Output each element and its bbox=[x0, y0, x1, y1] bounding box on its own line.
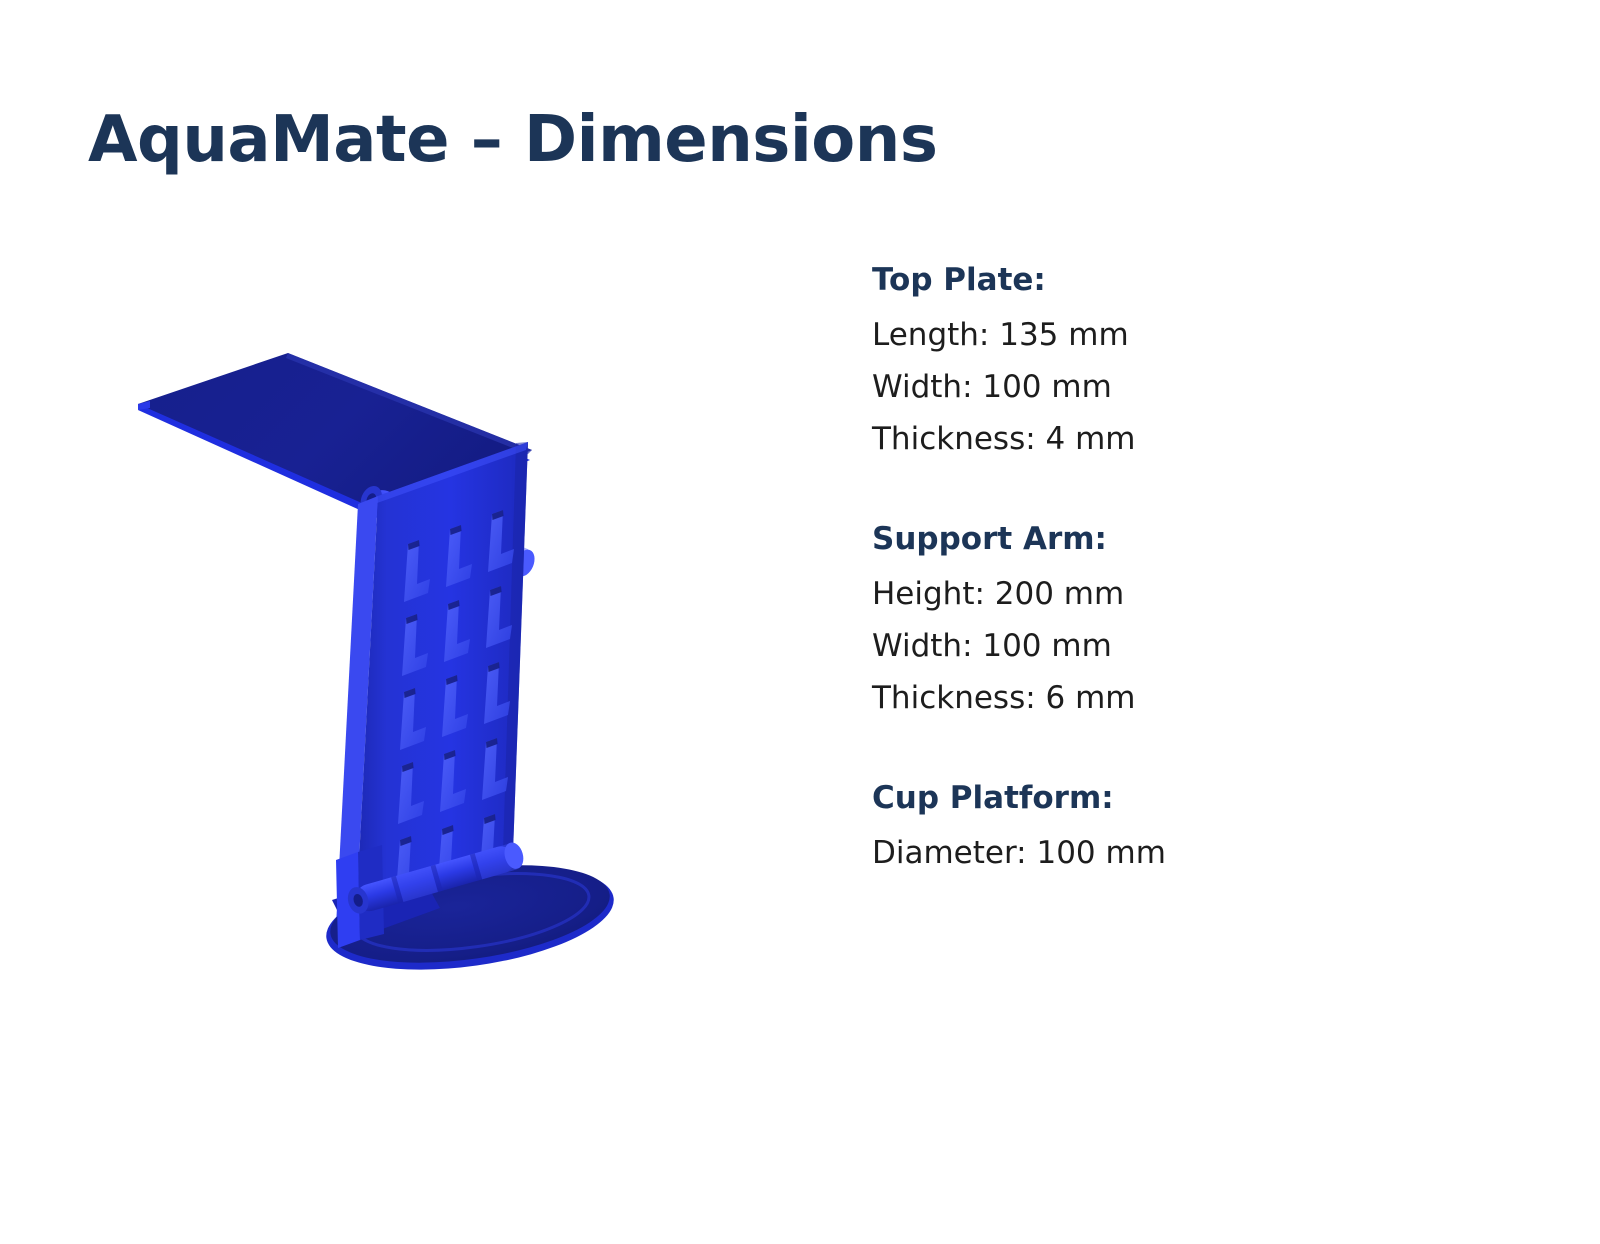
dimensions-spec-list: Top Plate: Length: 135 mm Width: 100 mm … bbox=[872, 258, 1392, 879]
spec-group-support-arm: Support Arm: Height: 200 mm Width: 100 m… bbox=[872, 517, 1392, 724]
spec-line-top-plate-length: Length: 135 mm bbox=[872, 309, 1392, 361]
spec-line-support-arm-height: Height: 200 mm bbox=[872, 568, 1392, 620]
spec-heading-top-plate: Top Plate: bbox=[872, 258, 1392, 303]
page-title: AquaMate – Dimensions bbox=[88, 105, 937, 175]
spec-group-cup-platform: Cup Platform: Diameter: 100 mm bbox=[872, 776, 1392, 879]
spec-group-top-plate: Top Plate: Length: 135 mm Width: 100 mm … bbox=[872, 258, 1392, 465]
spec-line-support-arm-thickness: Thickness: 6 mm bbox=[872, 672, 1392, 724]
spec-heading-cup-platform: Cup Platform: bbox=[872, 776, 1392, 821]
spec-line-cup-platform-diameter: Diameter: 100 mm bbox=[872, 827, 1392, 879]
slide-root: AquaMate – Dimensions bbox=[0, 0, 1600, 1244]
product-render bbox=[120, 300, 740, 980]
aquamate-3d-render-svg bbox=[120, 300, 740, 980]
spec-line-support-arm-width: Width: 100 mm bbox=[872, 620, 1392, 672]
spec-heading-support-arm: Support Arm: bbox=[872, 517, 1392, 562]
spec-line-top-plate-thickness: Thickness: 4 mm bbox=[872, 413, 1392, 465]
spec-line-top-plate-width: Width: 100 mm bbox=[872, 361, 1392, 413]
